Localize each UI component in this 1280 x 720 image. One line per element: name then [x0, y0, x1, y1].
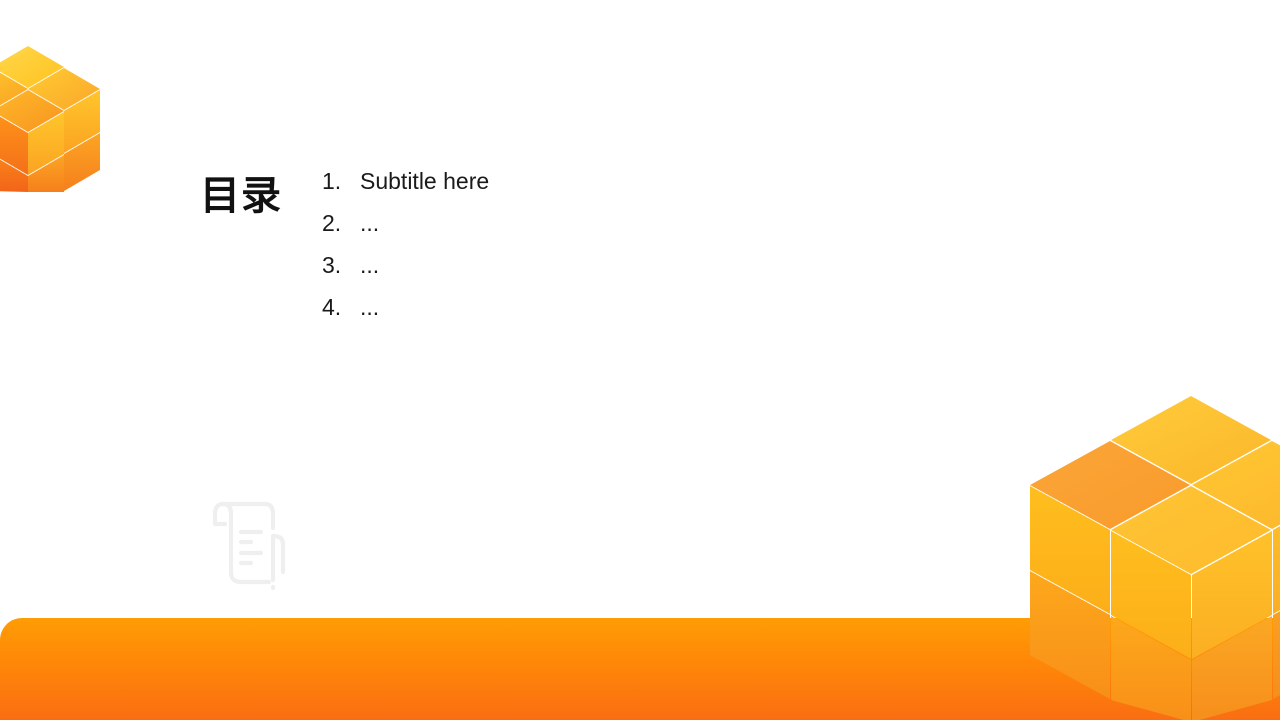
- slide-canvas: 目录 1. Subtitle here 2. ... 3. ... 4. ...: [0, 0, 1280, 720]
- list-item-label: Subtitle here: [360, 168, 489, 195]
- list-item-number: 1.: [322, 168, 360, 195]
- orange-cube-icon: [1026, 392, 1280, 720]
- orange-cube-icon: [0, 40, 106, 195]
- list-item[interactable]: 2. ...: [322, 210, 489, 252]
- list-item[interactable]: 4. ...: [322, 294, 489, 336]
- page-title: 目录: [200, 176, 322, 216]
- list-item-label: ...: [360, 294, 379, 321]
- list-item-number: 4.: [322, 294, 360, 321]
- document-scroll-icon: [193, 492, 293, 592]
- list-item-label: ...: [360, 210, 379, 237]
- list-item-label: ...: [360, 252, 379, 279]
- list-item-number: 3.: [322, 252, 360, 279]
- list-item[interactable]: 3. ...: [322, 252, 489, 294]
- toc-list: 1. Subtitle here 2. ... 3. ... 4. ...: [322, 168, 489, 336]
- toc-content: 目录 1. Subtitle here 2. ... 3. ... 4. ...: [200, 168, 489, 336]
- list-item-number: 2.: [322, 210, 360, 237]
- list-item[interactable]: 1. Subtitle here: [322, 168, 489, 210]
